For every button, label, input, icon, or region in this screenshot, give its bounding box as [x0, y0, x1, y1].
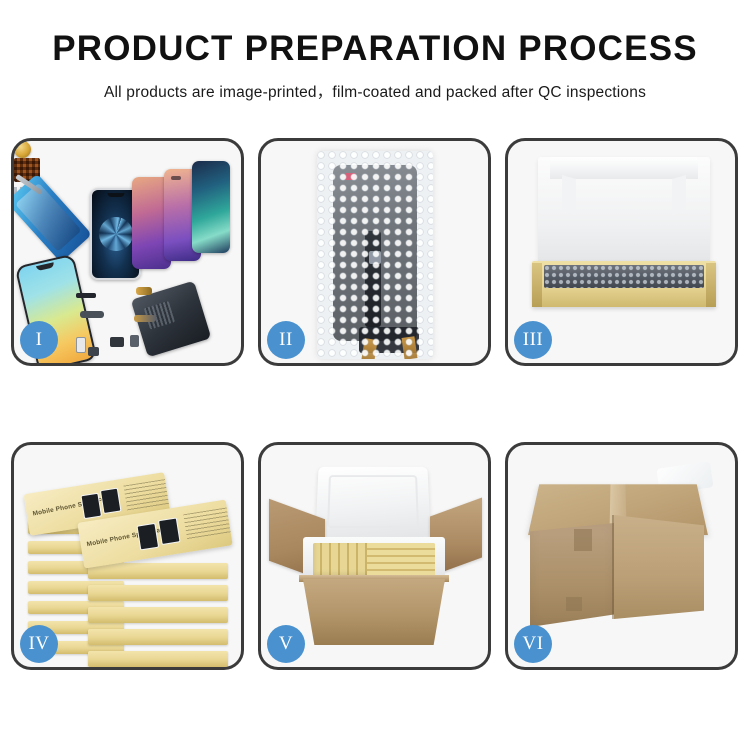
step-badge-4: IV: [20, 625, 58, 663]
part-connector-cable-icon: [134, 315, 156, 322]
box-spec-lines-front: [183, 507, 231, 540]
retail-box-right-1: [88, 563, 228, 579]
part-sim-tray-icon: [76, 337, 86, 353]
part-wireless-coil-icon: [14, 141, 31, 158]
carton-corner-seam-icon: [612, 515, 614, 619]
screen-assembly-icon: [333, 165, 417, 341]
process-step-panel-4: Mobile Phone Spare Parts Mobile Phone Sp…: [11, 442, 244, 670]
retail-box-right-3: [88, 607, 228, 623]
foam-lid-open-icon: [315, 467, 430, 537]
process-step-panel-6: VI: [505, 442, 738, 670]
part-module-icon: [110, 337, 124, 347]
screen-connector-icon: [359, 327, 419, 353]
part-battery-cell-icon: [130, 335, 139, 347]
box-art-screen-front-1: [136, 523, 159, 551]
tape-strip-left-icon: [361, 338, 377, 359]
box-lip-left-icon: [532, 263, 542, 307]
page-header: PRODUCT PREPARATION PROCESS All products…: [0, 0, 750, 102]
box-spec-lines-rear: [123, 479, 170, 512]
yellow-inner-box-icon: [532, 261, 716, 307]
carton-front-panel-icon: [303, 579, 445, 645]
tape-strip-right-icon: [402, 336, 418, 359]
process-step-panel-1: I: [11, 138, 244, 366]
part-speaker-bar-icon: [76, 293, 96, 298]
packed-boxes-row-secondary-icon: [367, 543, 435, 579]
step-badge-1: I: [20, 321, 58, 359]
qc-sticker-icon: [345, 173, 356, 180]
carton-tab-lower-icon: [566, 597, 582, 611]
process-step-panel-2: II: [258, 138, 491, 366]
process-step-grid: I II: [11, 138, 739, 670]
retail-box-right-2: [88, 585, 228, 601]
part-ribbon-cable-icon: [80, 311, 104, 318]
step-badge-2: II: [267, 321, 305, 359]
process-step-panel-5: V: [258, 442, 491, 670]
phone-screen-teal-icon: [192, 161, 230, 253]
step-badge-6: VI: [514, 625, 552, 663]
part-flex-cable-icon: [136, 287, 152, 295]
box-lip-right-icon: [706, 263, 716, 307]
box-art-screen-rear-1: [80, 493, 102, 520]
screen-driver-chip-icon: [369, 251, 381, 264]
carton-left-panel-icon: [530, 523, 614, 627]
process-step-panel-3: III: [505, 138, 738, 366]
part-camera-module-icon: [88, 347, 99, 356]
box-art-screen-rear-2: [100, 488, 122, 515]
wrapped-parts-icon: [544, 265, 704, 288]
phone-back-cover-blue-icon: [14, 173, 92, 262]
screen-flex-cable-icon: [365, 231, 381, 327]
step-badge-5: V: [267, 625, 305, 663]
foam-lid-flap-left-icon: [562, 175, 576, 215]
foam-lid-flap-right-icon: [672, 175, 686, 215]
carton-right-panel-icon: [614, 515, 704, 619]
bubble-wrap-bag-icon: [317, 151, 433, 359]
retail-box-right-5: [88, 651, 228, 667]
foam-lid-icon: [538, 157, 710, 269]
retail-box-right-4: [88, 629, 228, 645]
carton-tab-upper-icon: [574, 529, 592, 551]
step-badge-3: III: [514, 321, 552, 359]
box-art-screen-front-2: [158, 517, 181, 545]
page-subtitle: All products are image-printed，film-coat…: [0, 80, 750, 102]
page-title: PRODUCT PREPARATION PROCESS: [0, 30, 750, 69]
